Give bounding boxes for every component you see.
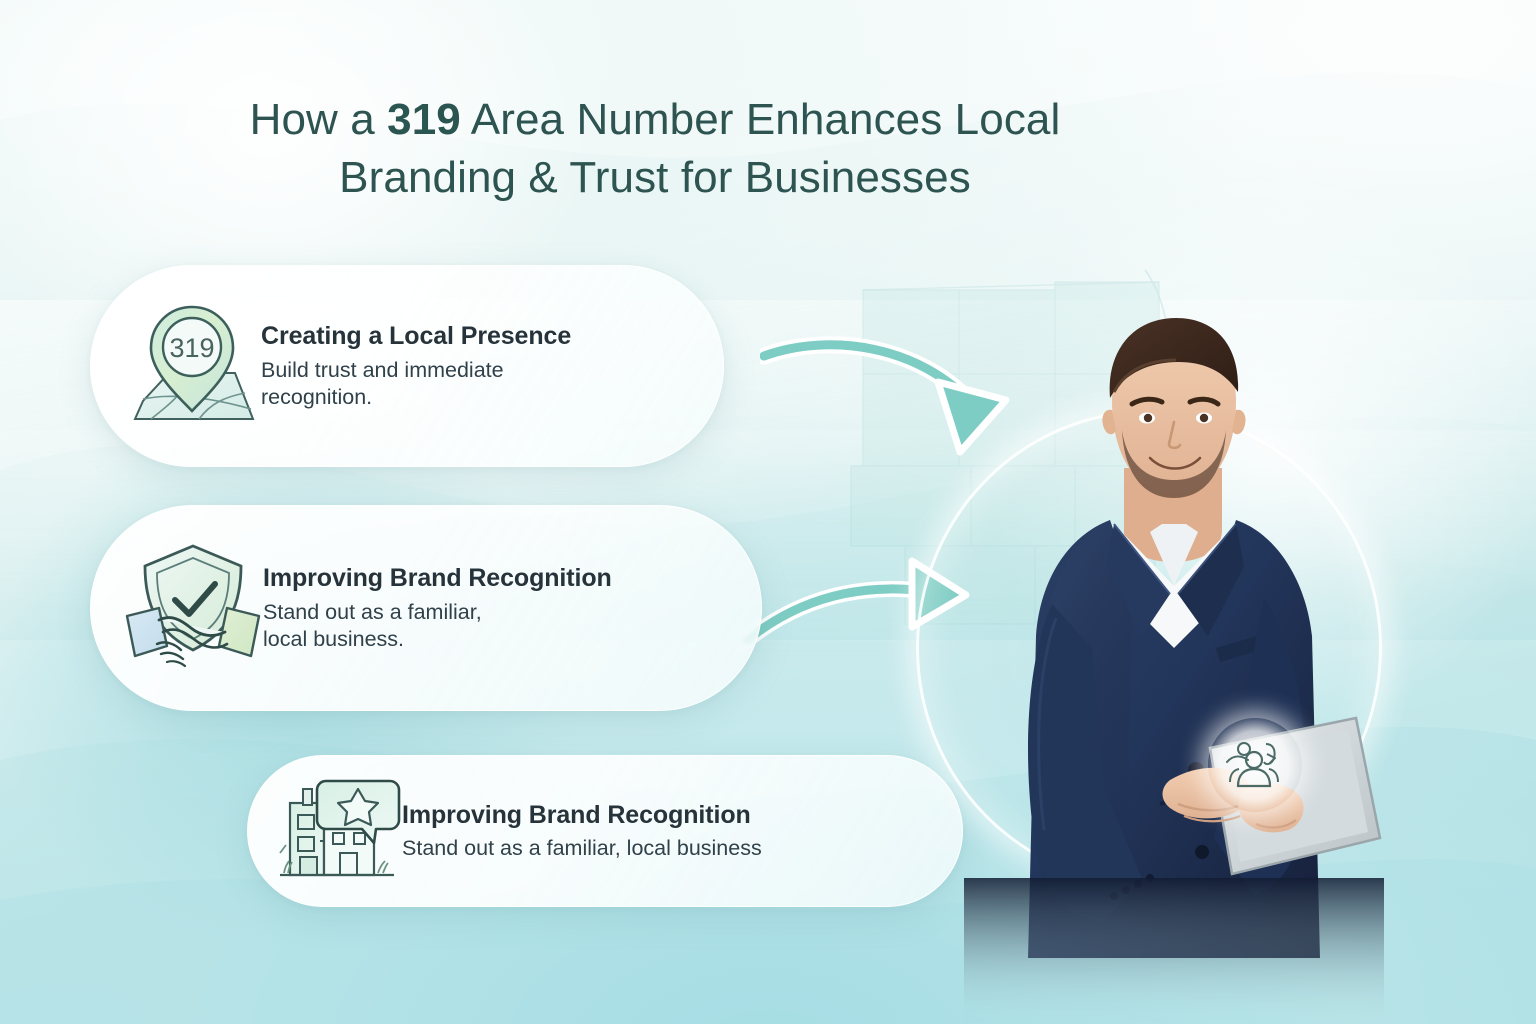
card-title: Improving Brand Recognition bbox=[263, 563, 731, 594]
card-improving-brand-recognition-shield[interactable]: Improving Brand Recognition Stand out as… bbox=[90, 505, 762, 711]
card-subtitle: Stand out as a familiar, local business. bbox=[263, 599, 731, 653]
bubble-people-group[interactable] bbox=[1208, 718, 1302, 812]
card-subtitle: Stand out as a familiar, local business bbox=[402, 835, 934, 862]
map-pin-badge-text: 319 bbox=[169, 333, 214, 363]
hero-scene bbox=[876, 0, 1536, 1024]
card-title: Creating a Local Presence bbox=[261, 321, 693, 352]
infographic-canvas: How a 319 Area Number Enhances Local Bra… bbox=[0, 0, 1536, 1024]
shield-check-handshake-icon bbox=[123, 540, 263, 676]
page-title-number: 319 bbox=[387, 95, 461, 144]
card-text-block: Improving Brand Recognition Stand out as… bbox=[402, 800, 934, 862]
people-group-icon bbox=[1226, 740, 1284, 790]
businessman-photo bbox=[964, 318, 1384, 1024]
card-text-block: Creating a Local Presence Build trust an… bbox=[261, 321, 693, 410]
card-text-block: Improving Brand Recognition Stand out as… bbox=[263, 563, 731, 652]
card-improving-brand-recognition-building[interactable]: Improving Brand Recognition Stand out as… bbox=[247, 755, 963, 907]
card-creating-a-local-presence[interactable]: 319 Creating a Local Presence Build trus… bbox=[90, 265, 724, 467]
card-subtitle: Build trust and immediate recognition. bbox=[261, 357, 693, 411]
page-title-pre: How a bbox=[250, 95, 388, 144]
map-pin-319-icon: 319 bbox=[129, 301, 261, 431]
card-title: Improving Brand Recognition bbox=[402, 800, 934, 831]
building-star-review-icon bbox=[276, 775, 402, 887]
